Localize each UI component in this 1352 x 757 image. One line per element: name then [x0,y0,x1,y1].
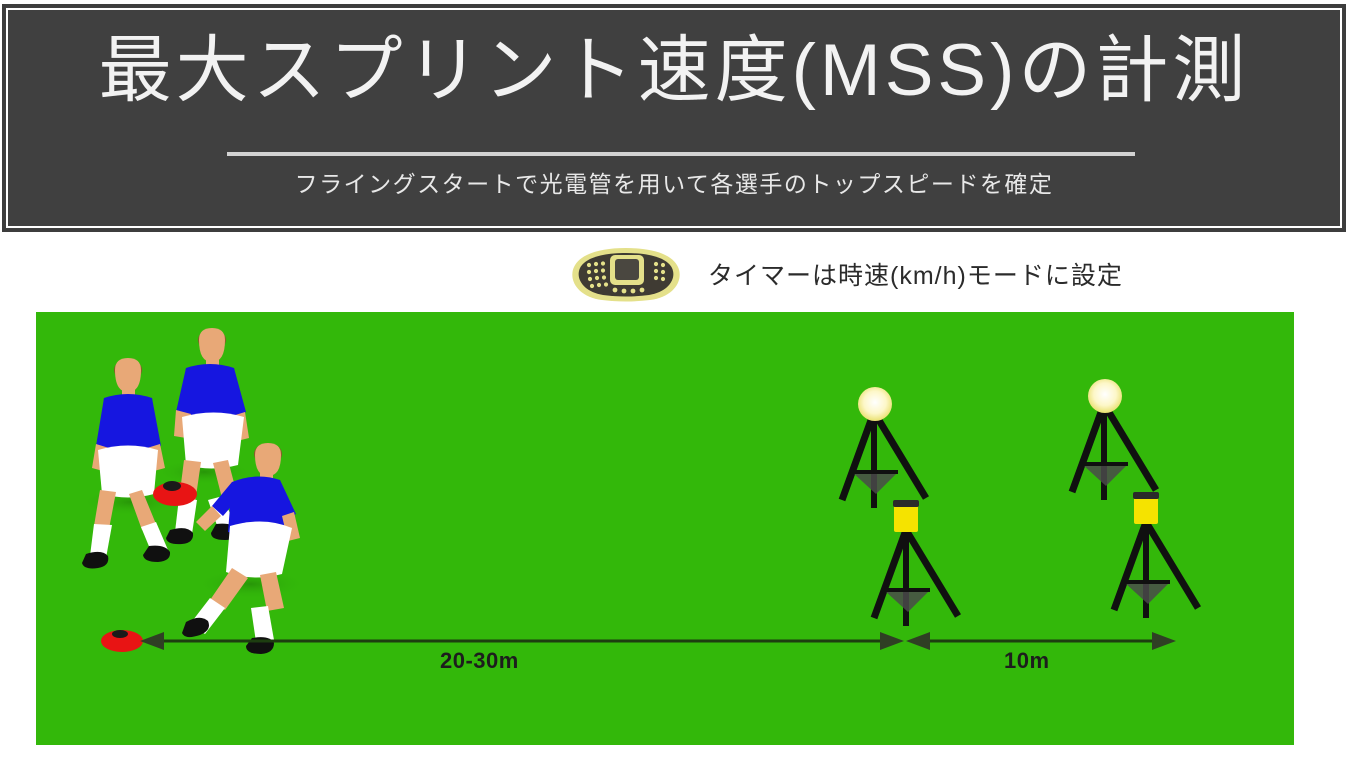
field-graphic [36,312,1294,745]
title-panel-inner: 最大スプリント速度(MSS)の計測 フライングスタートで光電管を用いて各選手のト… [5,7,1343,229]
player-standing-left [82,358,170,568]
page-subtitle: フライングスタートで光電管を用いて各選手のトップスピードを確定 [5,167,1343,201]
handheld-timer-icon [560,245,692,303]
gate-photocell-front-right [1114,492,1198,618]
timer-note-row: タイマーは時速(km/h)モードに設定 [560,243,1123,305]
timer-note-label: タイマーは時速(km/h)モードに設定 [708,256,1123,292]
gate-photocell-front-left [874,500,958,626]
title-panel: 最大スプリント速度(MSS)の計測 フライングスタートで光電管を用いて各選手のト… [2,4,1346,232]
distance-run-up-label: 20-30m [440,648,519,674]
gate-reflector-back-left [842,387,926,508]
slide-root: 最大スプリント速度(MSS)の計測 フライングスタートで光電管を用いて各選手のト… [0,0,1352,757]
title-divider [227,152,1135,156]
gate-reflector-back-right [1072,379,1156,500]
cone-start-line [101,630,143,652]
field-diagram [36,312,1294,745]
page-title: 最大スプリント速度(MSS)の計測 [5,23,1343,119]
distance-timing-zone-label: 10m [1004,648,1050,674]
